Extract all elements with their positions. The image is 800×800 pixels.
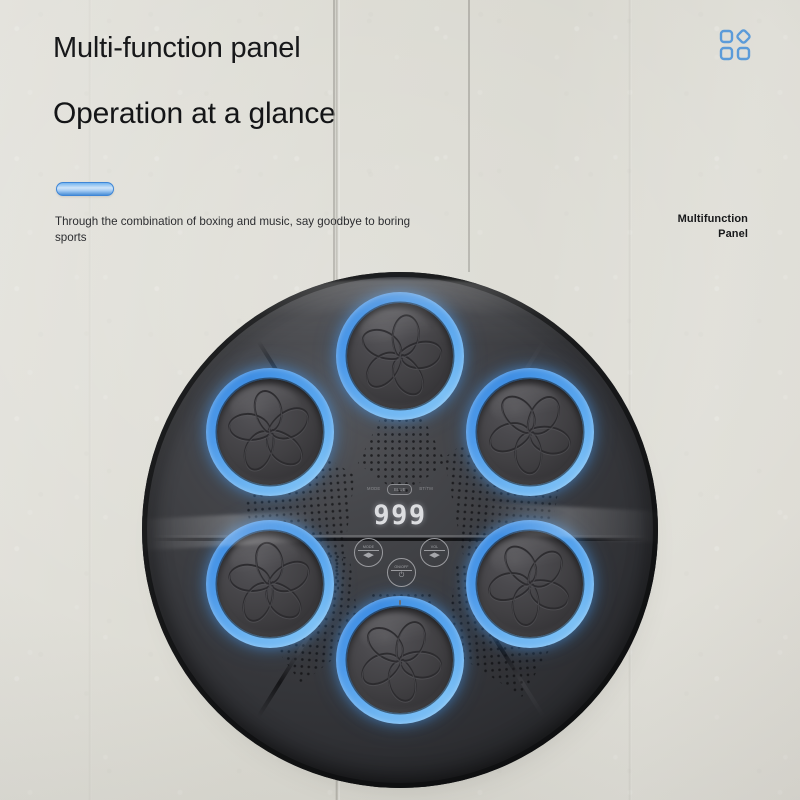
target-pad-bottom[interactable] <box>336 596 464 724</box>
hanging-cord-left <box>333 0 335 285</box>
power-button-glyph: ⏻ <box>399 572 405 579</box>
pinwheel-pattern-icon <box>217 379 323 485</box>
side-label: Multifunction Panel <box>598 212 748 242</box>
music-boxing-machine[interactable]: MODE BLUE BT/TM 999 MODE ◀▶ VOL ◀▶ <box>142 272 658 788</box>
mode-button-label: MODE <box>363 546 374 550</box>
target-pad-bottom-right[interactable] <box>466 520 594 648</box>
pinwheel-pattern-icon <box>477 531 583 637</box>
button-divider <box>424 550 445 551</box>
pinwheel-pattern-icon <box>477 379 583 485</box>
target-pad-top-right[interactable] <box>466 368 594 496</box>
indicator-right-label: BT/TM <box>419 487 433 491</box>
heading-block: Multi-function panel Operation at a glan… <box>53 32 473 132</box>
power-button-label: ON/OFF <box>394 566 408 570</box>
control-console: MODE BLUE BT/TM 999 MODE ◀▶ VOL ◀▶ <box>338 476 462 608</box>
pinwheel-pattern-icon <box>217 531 323 637</box>
indicator-row: MODE BLUE BT/TM <box>338 484 462 495</box>
page-subtitle-heading: Operation at a glance <box>53 97 473 132</box>
mode-button[interactable]: MODE ◀▶ <box>354 538 383 567</box>
device-top-highlight <box>209 279 591 362</box>
product-photo-scene: Multi-function panel Operation at a glan… <box>0 0 800 800</box>
button-row: MODE ◀▶ VOL ◀▶ ON/OFF ⏻ <box>338 538 462 592</box>
grid-four-squares-icon[interactable] <box>718 28 752 62</box>
status-led <box>399 600 401 605</box>
accent-pill-divider <box>56 182 114 196</box>
power-button[interactable]: ON/OFF ⏻ <box>387 558 416 587</box>
pad-surface <box>217 531 323 637</box>
indicator-chip: BLUE <box>387 484 412 495</box>
volume-button[interactable]: VOL ◀▶ <box>420 538 449 567</box>
mode-button-glyph: ◀▶ <box>363 552 374 559</box>
hanging-cord-right <box>468 0 470 272</box>
pad-surface <box>477 531 583 637</box>
side-label-line2: Panel <box>598 227 748 242</box>
pad-surface <box>347 607 453 713</box>
device-container: MODE BLUE BT/TM 999 MODE ◀▶ VOL ◀▶ <box>142 272 658 788</box>
button-divider <box>358 550 379 551</box>
page-title: Multi-function panel <box>53 32 473 65</box>
pinwheel-pattern-icon <box>347 607 453 713</box>
indicator-left-label: MODE <box>367 487 380 491</box>
side-label-line1: Multifunction <box>598 212 748 227</box>
volume-button-glyph: ◀▶ <box>429 552 440 559</box>
volume-button-label: VOL <box>431 546 439 550</box>
target-pad-top-left[interactable] <box>206 368 334 496</box>
pad-surface <box>477 379 583 485</box>
led-display: 999 <box>338 500 462 531</box>
pad-surface <box>217 379 323 485</box>
description-text: Through the combination of boxing and mu… <box>55 214 435 246</box>
grid-icon-svg <box>718 28 752 62</box>
